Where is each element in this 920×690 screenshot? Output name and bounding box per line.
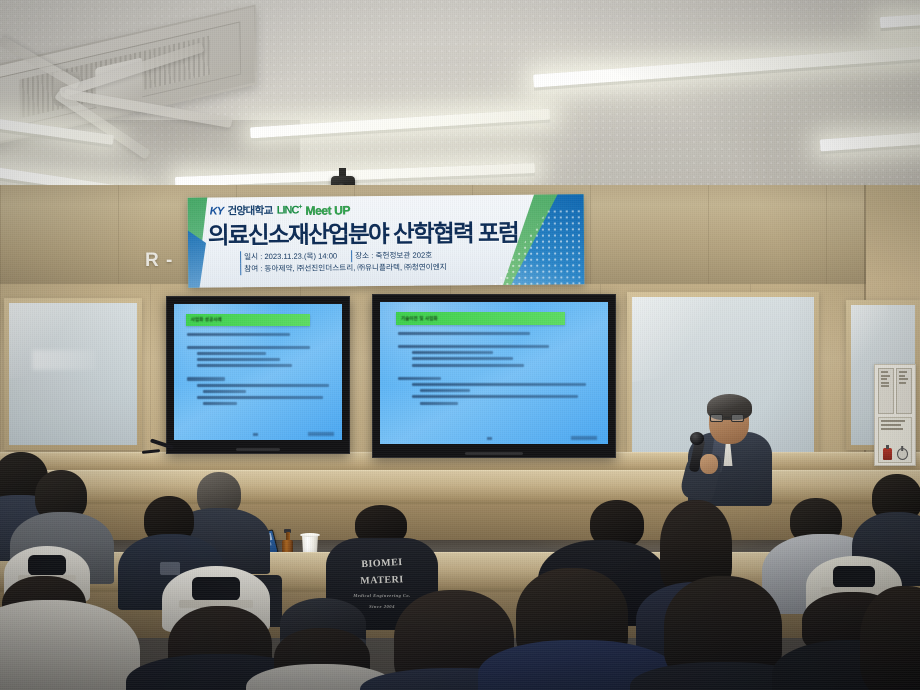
glasses-bridge: [724, 417, 730, 418]
presentation-display-right: 기술이전 및 사업화: [372, 294, 616, 458]
hoodie-logo-patch: [160, 562, 180, 575]
ky-logo: KY: [210, 205, 224, 217]
slide-page-number: [487, 437, 492, 440]
slide-header-text: 기술이전 및 사업화: [401, 316, 438, 322]
slide-page-number: [253, 433, 258, 436]
whiteboard-glare: [32, 350, 96, 370]
glasses-lens: [710, 414, 723, 422]
poster-diagram-row: [878, 368, 912, 414]
cap-ponytail-hole: [192, 577, 240, 603]
fire-extinguisher-icon: [883, 448, 892, 460]
slide-header-bar: 기술이전 및 사업화: [396, 312, 565, 325]
slide-body: [398, 332, 592, 430]
valve-icon: [897, 448, 908, 460]
banner-title: 의료신소재산업분야 산학협력 포럼: [208, 214, 522, 251]
whiteboard-glare: [632, 297, 748, 383]
banner-place: 장소 : 죽헌정보관 202호: [351, 250, 432, 262]
banner-details: 일시 : 2023.11.23.(목) 14:00 장소 : 죽헌정보관 202…: [240, 249, 526, 275]
wall-lettering: R -: [145, 250, 173, 272]
glasses-lens: [731, 414, 744, 422]
cap-ponytail-hole: [28, 555, 66, 577]
slide-right: 기술이전 및 사업화: [380, 302, 608, 444]
slide-left: 사업화 성공사례: [174, 304, 342, 440]
presentation-display-left: 사업화 성공사례: [166, 296, 350, 454]
slide-header-bar: 사업화 성공사례: [186, 314, 310, 327]
audience-desk-row-1: [0, 470, 920, 504]
forum-banner: KY 건양대학교 LINC+ Meet UP 의료신소재산업분야 산학협력 포럼…: [188, 194, 585, 287]
banner-participants: 참여 : 동아제약, ㈜선진인더스트리, ㈜유니플라텍, ㈜청연이엔지: [240, 261, 447, 275]
whiteboard-surface: [9, 303, 137, 445]
safety-notice-poster: [874, 364, 916, 466]
jacket-text-line-2: MATERI: [326, 573, 438, 588]
poster-diagram: [878, 368, 894, 414]
slide-footer-logo: [571, 436, 597, 440]
jacket-text-line-1: BIOMEI: [326, 555, 438, 572]
paper-cup-rim: [300, 533, 320, 537]
cap-ponytail-hole: [833, 566, 875, 590]
poster-icon-row: [881, 448, 909, 460]
glasses-icon: [710, 414, 744, 422]
lecture-hall-photo: R - KY 건양대학교 LINC+ Meet UP 의료신소재산업분야 산학: [0, 0, 920, 690]
poster-equipment-row: [878, 417, 912, 463]
slide-header-text: 사업화 성공사례: [191, 317, 222, 323]
desk-front-panel: [0, 504, 920, 540]
whiteboard-left: [4, 298, 142, 450]
slide-body: [187, 333, 330, 427]
poster-diagram: [896, 368, 912, 414]
presenter: [684, 392, 776, 504]
slide-footer-logo: [308, 432, 334, 436]
microphone-head: [690, 432, 704, 445]
presenter-hand: [700, 454, 718, 474]
banner-date: 일시 : 2023.11.23.(목) 14:00: [240, 250, 337, 263]
